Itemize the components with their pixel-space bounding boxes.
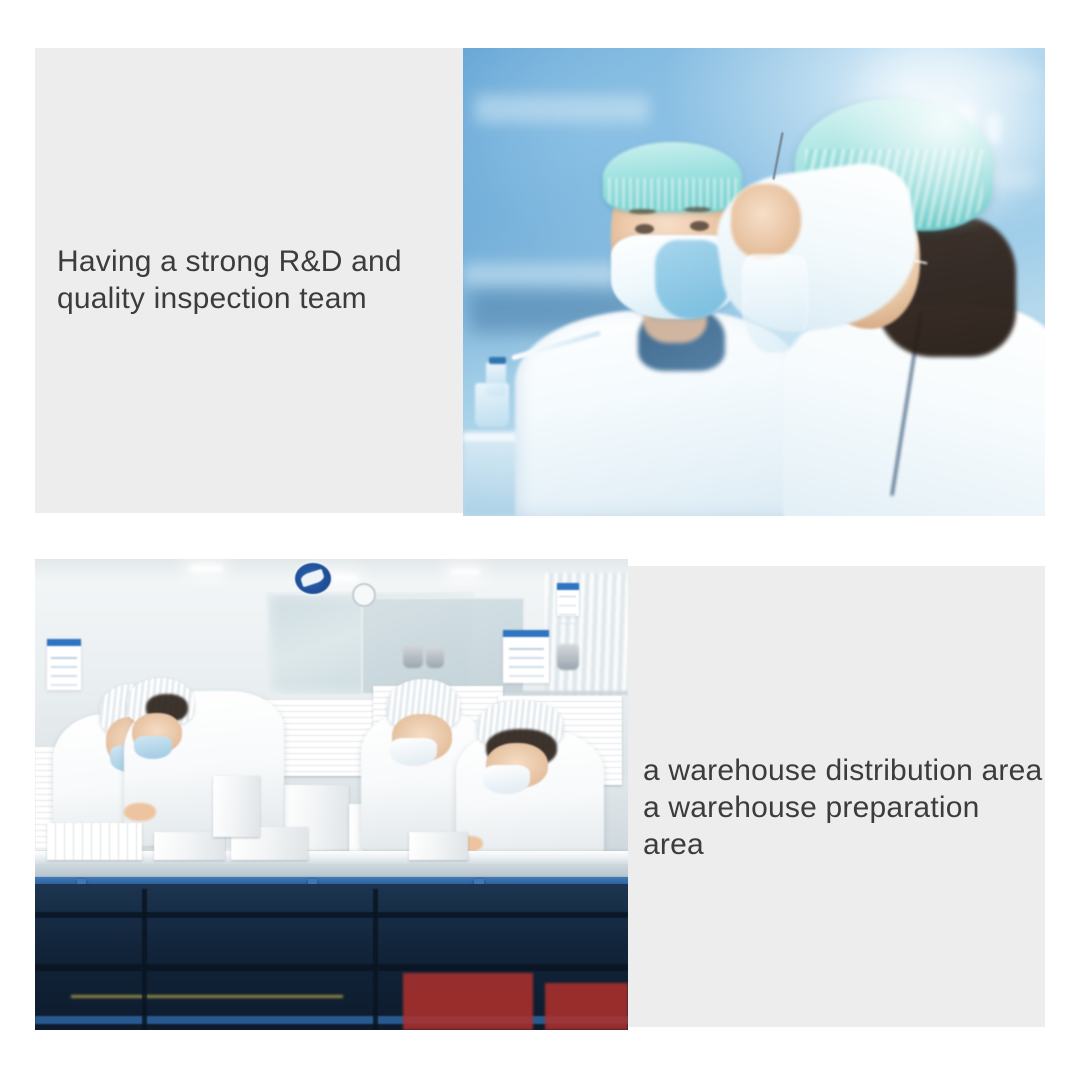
carton-row	[47, 823, 142, 861]
warehouse-packaging-photo	[35, 559, 628, 1030]
blue-safety-sign-icon	[293, 561, 333, 596]
table-understructure	[35, 884, 628, 1030]
stainless-container	[403, 644, 423, 668]
packaging-worker	[456, 729, 604, 870]
red-crate	[545, 983, 628, 1030]
worker-face-mask	[134, 736, 172, 759]
carton-box	[409, 832, 468, 860]
shelf-upright	[373, 889, 378, 1030]
red-crate	[403, 973, 533, 1030]
lab-shelf	[475, 95, 650, 123]
stainless-container	[426, 646, 444, 668]
lab-inspection-photo	[463, 48, 1045, 516]
shelf-rail	[35, 912, 628, 918]
stainless-container	[557, 644, 579, 670]
worker-face-mask	[390, 738, 437, 766]
worker-hand	[124, 803, 156, 822]
technician-a-hairnet	[603, 142, 743, 212]
floor-rail	[35, 1016, 628, 1024]
sample-vial	[486, 362, 506, 396]
ceiling-light	[450, 569, 480, 575]
wall-clock-icon	[352, 583, 376, 607]
technician-b-hand	[731, 184, 801, 259]
product-bottle	[213, 776, 260, 837]
worker-face-mask	[483, 765, 530, 793]
wall-notice-board	[557, 583, 579, 616]
cleanroom-window	[361, 597, 525, 695]
wall-notice-board	[47, 639, 81, 690]
wall-notice-board	[503, 630, 549, 683]
warehouse-caption: a warehouse distribution area a warehous…	[643, 752, 1043, 863]
ceiling-light	[189, 565, 223, 572]
research-quality-caption: Having a strong R&D and quality inspecti…	[57, 243, 457, 317]
technician-a-eyebrow	[684, 207, 711, 212]
shelf-rail	[35, 964, 628, 971]
lab-light-glow	[812, 48, 1045, 226]
sample-vial-cap	[489, 357, 506, 364]
slide-canvas: Having a strong R&D and quality inspecti…	[0, 0, 1080, 1080]
shelf-upright	[142, 889, 147, 1030]
floor-marking	[71, 995, 344, 998]
technician-a-eye	[635, 224, 654, 234]
glass-flask	[742, 254, 808, 354]
